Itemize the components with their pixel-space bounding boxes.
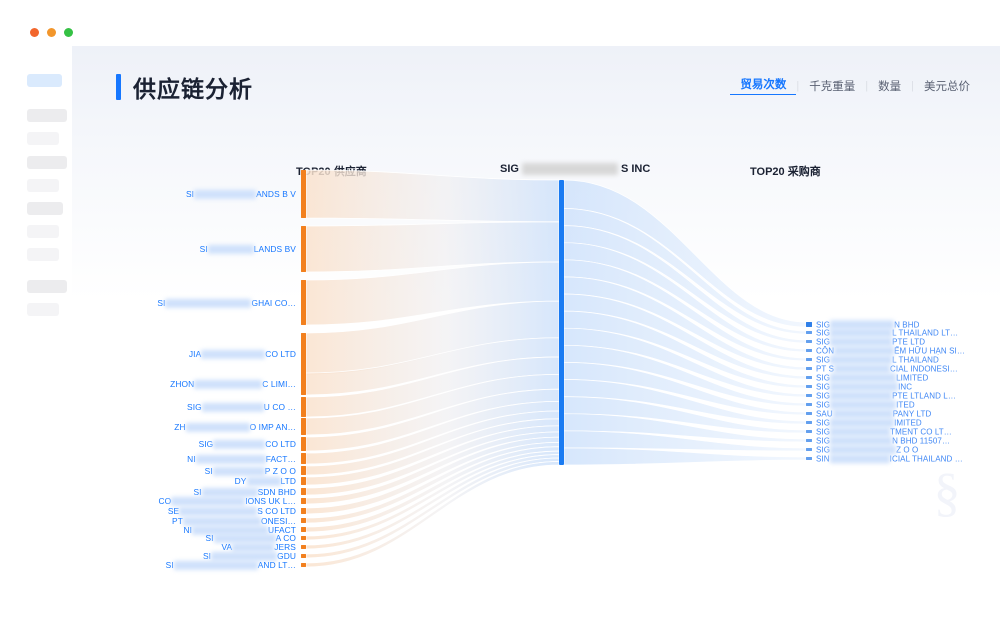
supplier-label-suffix: FACT… xyxy=(266,453,296,463)
buyer-label-2[interactable]: SIGPTE LTD xyxy=(816,337,925,346)
supplier-label-19[interactable]: SIAND LT… xyxy=(166,560,296,570)
supplier-label-suffix: LANDS BV xyxy=(254,244,296,254)
buyer-label-prefix: SIG xyxy=(816,436,830,445)
supplier-node-5[interactable] xyxy=(301,397,306,417)
supplier-label-suffix: ANDS B V xyxy=(256,189,296,199)
supplier-node-12[interactable] xyxy=(301,498,306,504)
supplier-label-7[interactable]: SIGCO LTD xyxy=(199,439,296,449)
supplier-node-6[interactable] xyxy=(301,418,306,435)
buyer-label-prefix: SIG xyxy=(816,391,830,400)
supplier-label-suffix: CO LTD xyxy=(265,439,296,449)
supplier-label-2[interactable]: SIGHAI CO… xyxy=(157,297,296,307)
supplier-node-17[interactable] xyxy=(301,545,306,549)
supplier-node-14[interactable] xyxy=(301,518,306,523)
buyer-label-prefix: SIG xyxy=(816,337,830,346)
redacted-supplier-name xyxy=(201,350,265,359)
supplier-label-3[interactable]: JIACO LTD xyxy=(189,349,296,359)
redacted-supplier-name xyxy=(194,380,262,389)
buyer-node-1[interactable] xyxy=(806,331,812,334)
buyer-label-suffix: INC xyxy=(898,382,912,391)
supplier-label-prefix: SI xyxy=(193,486,201,496)
supplier-label-suffix: U CO … xyxy=(264,402,296,412)
center-node[interactable] xyxy=(559,180,564,465)
sidebar-skeleton-active[interactable] xyxy=(27,74,62,87)
supplier-label-prefix: SI xyxy=(205,533,213,543)
supplier-label-suffix: S CO LTD xyxy=(257,506,296,516)
buyer-label-3[interactable]: CÔNỂM HỮU HẠN SI… xyxy=(816,346,965,355)
supplier-label-prefix: SI xyxy=(205,465,213,475)
minimize-button[interactable] xyxy=(47,28,56,37)
supplier-label-8[interactable]: NIFACT… xyxy=(187,453,296,463)
watermark-glyph: § xyxy=(916,461,978,523)
supplier-node-7[interactable] xyxy=(301,437,306,451)
supplier-node-16[interactable] xyxy=(301,536,306,540)
supplier-label-5[interactable]: SIGU CO … xyxy=(187,402,296,412)
buyer-label-prefix: SIG xyxy=(816,355,830,364)
buyer-node-2[interactable] xyxy=(806,340,812,343)
buyer-node-4[interactable] xyxy=(806,358,812,361)
sidebar-skeleton-3 xyxy=(27,156,67,169)
supplier-label-prefix: SIG xyxy=(199,439,214,449)
supplier-label-suffix: GHAI CO… xyxy=(251,297,296,307)
supplier-label-prefix: NI xyxy=(183,524,192,534)
supplier-node-3[interactable] xyxy=(301,333,306,375)
sidebar-skeleton-6 xyxy=(27,225,59,238)
supplier-label-suffix: P Z O O xyxy=(265,465,296,475)
buyer-label-4[interactable]: SIGL THAILAND xyxy=(816,355,939,364)
buyer-label-9[interactable]: SIGITED xyxy=(816,400,915,409)
sidebar-skeleton-8 xyxy=(27,280,67,293)
buyer-node-12[interactable] xyxy=(806,430,812,433)
buyer-node-14[interactable] xyxy=(806,448,812,451)
supply-chain-card: 供应链分析 贸易次数|千克重量|数量|美元总价 TOP20 供应商 SIG S … xyxy=(72,46,1000,575)
supplier-node-0[interactable] xyxy=(301,170,306,218)
supplier-label-suffix: SDN BHD xyxy=(258,486,296,496)
buyer-label-14[interactable]: SIGZ O O xyxy=(816,445,918,454)
sidebar-skeleton-7 xyxy=(27,248,59,261)
sidebar-skeleton-4 xyxy=(27,179,59,192)
buyer-label-10[interactable]: SAUPANY LTD xyxy=(816,409,931,418)
supplier-label-prefix: ZHON xyxy=(170,379,194,389)
redacted-supplier-name xyxy=(186,423,250,432)
buyer-label-suffix: N BHD 11507… xyxy=(892,436,950,445)
buyer-label-prefix: CÔN xyxy=(816,346,834,355)
buyer-node-9[interactable] xyxy=(806,403,812,406)
card-content: 供应链分析 贸易次数|千克重量|数量|美元总价 TOP20 供应商 SIG S … xyxy=(92,46,1000,575)
supplier-node-9[interactable] xyxy=(301,466,306,475)
supplier-label-suffix: C LIMI… xyxy=(262,379,296,389)
sidebar-skeleton-9 xyxy=(27,303,59,316)
buyer-node-3[interactable] xyxy=(806,349,812,352)
supplier-label-prefix: CO xyxy=(158,496,171,506)
supplier-label-prefix: ZH xyxy=(174,421,185,431)
buyer-label-prefix: PT S xyxy=(816,364,834,373)
buyer-label-6[interactable]: SIGLIMITED xyxy=(816,373,928,382)
supplier-label-prefix: SE xyxy=(168,506,179,516)
buyer-label-8[interactable]: SIGPTE LTLAND L… xyxy=(816,391,956,400)
supplier-label-10[interactable]: DYLTD xyxy=(235,476,296,486)
supplier-node-2[interactable] xyxy=(301,280,306,325)
supplier-node-15[interactable] xyxy=(301,527,306,532)
redacted-buyer-name xyxy=(830,454,890,463)
supplier-label-6[interactable]: ZHO IMP AN… xyxy=(174,421,296,431)
supplier-node-18[interactable] xyxy=(301,554,306,558)
buyer-label-suffix: PTE LTD xyxy=(892,337,925,346)
buyer-node-5[interactable] xyxy=(806,367,812,370)
buyer-node-13[interactable] xyxy=(806,439,812,442)
supplier-label-0[interactable]: SIANDS B V xyxy=(186,189,296,199)
sankey-link-supplier-0 xyxy=(306,170,559,222)
redacted-supplier-name xyxy=(171,497,245,506)
supplier-label-suffix: LTD xyxy=(281,476,297,486)
redacted-supplier-name xyxy=(196,455,266,464)
buyer-label-prefix: SIG xyxy=(816,400,830,409)
sidebar-skeleton-2 xyxy=(27,132,59,145)
supplier-node-4[interactable] xyxy=(301,373,306,395)
redacted-supplier-name xyxy=(174,561,258,570)
redacted-supplier-name xyxy=(213,440,265,449)
buyer-label-suffix: Z O O xyxy=(896,445,918,454)
window-controls[interactable] xyxy=(30,28,73,37)
redacted-supplier-name xyxy=(165,299,251,308)
buyer-label-13[interactable]: SIGN BHD 11507… xyxy=(816,436,950,445)
supplier-label-suffix: AND LT… xyxy=(258,560,296,570)
buyer-node-11[interactable] xyxy=(806,421,812,424)
supplier-label-prefix: NI xyxy=(187,453,196,463)
buyer-label-7[interactable]: SIGINC xyxy=(816,382,912,391)
buyer-label-suffix: PANY LTD xyxy=(893,409,932,418)
redacted-supplier-name xyxy=(213,467,265,476)
supplier-label-1[interactable]: SILANDS BV xyxy=(200,244,296,254)
supplier-label-suffix: IONS UK L… xyxy=(245,496,296,506)
sidebar-skeleton-5 xyxy=(27,202,63,215)
supplier-node-10[interactable] xyxy=(301,477,306,485)
buyer-node-15[interactable] xyxy=(806,457,812,460)
buyer-node-8[interactable] xyxy=(806,394,812,397)
buyer-label-suffix: LIMITED xyxy=(896,373,928,382)
supplier-label-suffix: O IMP AN… xyxy=(250,421,296,431)
buyer-label-suffix: PTE LTLAND L… xyxy=(892,391,956,400)
close-button[interactable] xyxy=(30,28,39,37)
supplier-label-12[interactable]: COIONS UK L… xyxy=(158,496,296,506)
supplier-node-1[interactable] xyxy=(301,226,306,272)
sidebar xyxy=(0,46,72,629)
supplier-label-prefix: SI xyxy=(157,297,165,307)
redacted-supplier-name xyxy=(202,403,264,412)
buyer-node-7[interactable] xyxy=(806,385,812,388)
supplier-node-11[interactable] xyxy=(301,488,306,495)
buyer-label-prefix: SAU xyxy=(816,409,833,418)
buyer-label-prefix: SIG xyxy=(816,328,830,337)
buyer-node-10[interactable] xyxy=(806,412,812,415)
buyer-label-suffix: L THAILAND xyxy=(892,355,939,364)
maximize-button[interactable] xyxy=(64,28,73,37)
buyer-label-prefix: SIG xyxy=(816,373,830,382)
supplier-label-prefix: SI xyxy=(200,244,208,254)
buyer-node-0[interactable] xyxy=(806,322,812,327)
buyer-label-12[interactable]: SIGTMENT CO LT… xyxy=(816,427,952,436)
buyer-label-suffix: IMITED xyxy=(894,418,922,427)
redacted-supplier-name xyxy=(194,190,256,199)
buyer-label-suffix: TMENT CO LT… xyxy=(890,427,952,436)
sidebar-skeleton-1 xyxy=(27,109,67,122)
buyer-label-suffix: ỂM HỮU HẠN SI… xyxy=(894,346,965,355)
buyer-label-11[interactable]: SIGIMITED xyxy=(816,418,922,427)
buyer-label-suffix: CIAL INDONESI… xyxy=(890,364,958,373)
supplier-label-prefix: DY xyxy=(235,476,247,486)
buyer-label-prefix: SIG xyxy=(816,382,830,391)
supplier-label-prefix: JIA xyxy=(189,349,201,359)
redacted-supplier-name xyxy=(208,245,254,254)
buyer-label-suffix: L THAILAND LT… xyxy=(892,328,958,337)
buyer-label-suffix: ITED xyxy=(896,400,915,409)
supplier-label-prefix: PT xyxy=(172,515,183,525)
supplier-label-9[interactable]: SIP Z O O xyxy=(205,465,296,475)
buyer-label-prefix: SIG xyxy=(816,445,830,454)
buyer-label-prefix: SIG xyxy=(816,418,830,427)
supplier-label-4[interactable]: ZHONC LIMI… xyxy=(170,379,296,389)
buyer-node-6[interactable] xyxy=(806,376,812,379)
supplier-label-prefix: SI xyxy=(186,189,194,199)
supplier-label-prefix: SI xyxy=(166,560,174,570)
supplier-node-19[interactable] xyxy=(301,563,306,567)
buyer-label-5[interactable]: PT SCIAL INDONESI… xyxy=(816,364,958,373)
supplier-node-13[interactable] xyxy=(301,508,306,514)
supplier-label-suffix: CO LTD xyxy=(265,349,296,359)
buyer-label-prefix: SIG xyxy=(816,427,830,436)
buyer-label-1[interactable]: SIGL THAILAND LT… xyxy=(816,328,958,337)
redacted-supplier-name xyxy=(247,477,281,486)
buyer-label-prefix: SIN xyxy=(816,454,830,463)
supplier-node-8[interactable] xyxy=(301,453,306,464)
supplier-label-prefix: SIG xyxy=(187,402,202,412)
